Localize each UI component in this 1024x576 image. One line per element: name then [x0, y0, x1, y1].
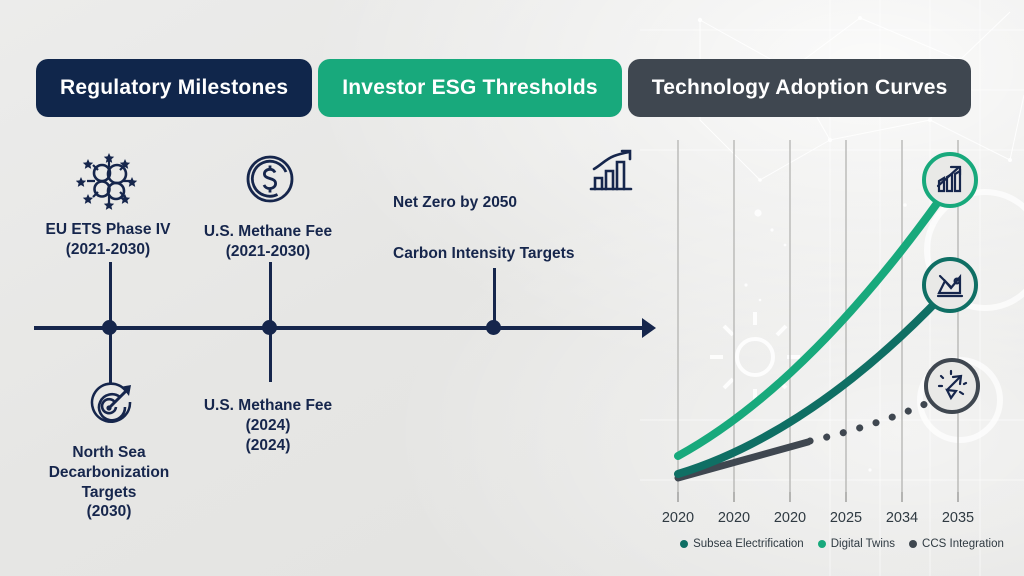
header-tabs: Regulatory Milestones Investor ESG Thres… [36, 59, 971, 117]
chart-x-tick-labels: 2020 2020 2020 2025 2034 2035 [662, 510, 974, 526]
timeline-stem-1-down [109, 330, 112, 384]
x-tick-label: 2020 [774, 510, 806, 526]
milestone-title: U.S. Methane Fee [168, 222, 368, 242]
technology-adoption-chart: 2020 2020 2020 2025 2034 2035 [660, 130, 1024, 576]
timeline-dot-2[interactable] [262, 320, 277, 335]
target-arrow-icon [82, 380, 136, 439]
series-line-subsea-electrification [678, 298, 940, 474]
x-tick-label: 2020 [662, 510, 694, 526]
timeline-stem-1-up [109, 262, 112, 324]
timeline-arrow-head [642, 318, 656, 338]
timeline-stem-2-up [269, 262, 272, 324]
tab-investor-esg-thresholds[interactable]: Investor ESG Thresholds [318, 59, 622, 117]
milestone-title: North Sea Decarbonization Targets [28, 443, 190, 502]
series-line-digital-twins [678, 202, 938, 456]
milestone-year: (2021-2030) [168, 242, 368, 262]
timeline-axis [34, 326, 650, 330]
badge-digital-twins [924, 154, 976, 206]
x-tick-label: 2034 [886, 510, 918, 526]
timeline-stem-2-down [269, 330, 272, 382]
legend-label: Subsea Electrification [693, 538, 804, 550]
tab-regulatory-milestones[interactable]: Regulatory Milestones [36, 59, 312, 117]
milestone-year: (2030) [28, 502, 190, 522]
tab-label: Technology Adoption Curves [652, 76, 948, 100]
badge-subsea-electrification [924, 259, 976, 311]
timeline-label-north-sea: North Sea Decarbonization Targets (2030) [28, 443, 190, 522]
tab-label: Investor ESG Thresholds [342, 76, 598, 100]
timeline-dot-3[interactable] [486, 320, 501, 335]
infographic-canvas: Regulatory Milestones Investor ESG Thres… [0, 0, 1024, 576]
x-tick-label: 2020 [718, 510, 750, 526]
timeline-label-us-methane-above: U.S. Methane Fee (2021-2030) [168, 222, 368, 262]
legend-item-ccs-integration[interactable]: CCS Integration [909, 538, 1004, 550]
legend-dot-icon [909, 540, 917, 548]
series-line-ccs-integration-dotted [810, 398, 938, 441]
molecule-stars-icon [76, 148, 142, 219]
legend-item-subsea-electrification[interactable]: Subsea Electrification [680, 538, 804, 550]
legend-dot-icon [680, 540, 688, 548]
badge-ccs-integration [926, 360, 978, 412]
tab-technology-adoption-curves[interactable]: Technology Adoption Curves [628, 59, 972, 117]
chart-gridlines [678, 140, 958, 492]
chart-legend: Subsea Electrification Digital Twins CCS… [660, 538, 1024, 550]
timeline-label-us-methane-below: U.S. Methane Fee (2024) (2024) [168, 396, 368, 455]
timeline-dot-1[interactable] [102, 320, 117, 335]
chart-x-ticks [678, 492, 958, 502]
milestone-title: U.S. Methane Fee [168, 396, 368, 416]
note-carbon-intensity: Carbon Intensity Targets [393, 245, 574, 263]
legend-item-digital-twins[interactable]: Digital Twins [818, 538, 895, 550]
x-tick-label: 2025 [830, 510, 862, 526]
legend-label: CCS Integration [922, 538, 1004, 550]
tab-label: Regulatory Milestones [60, 76, 288, 100]
timeline-stem-3-up [493, 268, 496, 324]
legend-dot-icon [818, 540, 826, 548]
growth-bar-chart-icon [586, 147, 636, 200]
milestone-year: (2024) [168, 416, 368, 436]
dollar-coin-icon [243, 152, 297, 211]
legend-label: Digital Twins [831, 538, 895, 550]
milestone-year-2: (2024) [168, 436, 368, 456]
x-tick-label: 2035 [942, 510, 974, 526]
note-net-zero: Net Zero by 2050 [393, 194, 517, 212]
